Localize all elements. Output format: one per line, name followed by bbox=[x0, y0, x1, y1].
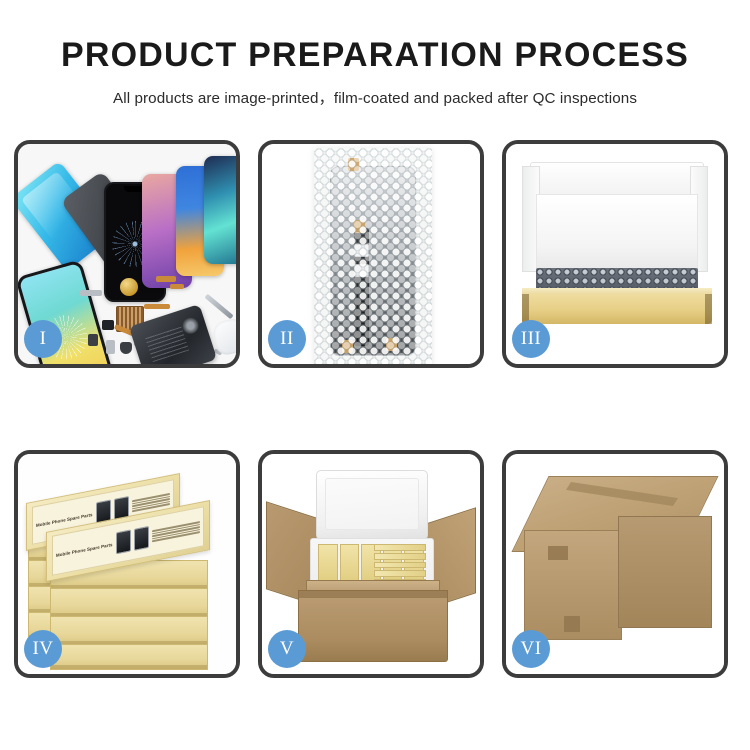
process-step-panel-2[interactable]: II bbox=[258, 140, 484, 368]
phone-teal-screen bbox=[204, 156, 236, 264]
small-part-strip bbox=[80, 290, 102, 296]
flex-cable-2 bbox=[170, 284, 184, 289]
box-label-feature-list-lower bbox=[152, 521, 200, 542]
foam-box-lid bbox=[316, 470, 428, 540]
carton-tape-upper bbox=[548, 546, 568, 560]
flex-cable-4 bbox=[144, 304, 170, 309]
process-step-panel-4[interactable]: Mobile Phone Spare Parts Mobile Phone Sp… bbox=[14, 450, 240, 678]
process-step-panel-3[interactable]: III bbox=[502, 140, 728, 368]
bubble-wrap-package bbox=[314, 148, 432, 364]
small-part-motor bbox=[120, 342, 132, 354]
bubble-texture-overlay bbox=[314, 148, 432, 364]
box-label-thumb-d bbox=[134, 526, 149, 551]
process-steps-grid: I II bbox=[14, 140, 736, 678]
step-badge-2: II bbox=[268, 320, 306, 358]
box-label-brand-lower: Mobile Phone Spare Parts bbox=[56, 541, 113, 557]
step-badge-4: IV bbox=[24, 630, 62, 668]
step-badge-6: VI bbox=[512, 630, 550, 668]
process-step-panel-1[interactable]: I bbox=[14, 140, 240, 368]
step-badge-1: I bbox=[24, 320, 62, 358]
page-title: PRODUCT PREPARATION PROCESS bbox=[0, 38, 750, 74]
process-step-panel-6[interactable]: VI bbox=[502, 450, 728, 678]
step-badge-3: III bbox=[512, 320, 550, 358]
box-label-thumb-c bbox=[116, 529, 131, 554]
small-part-sim-tray bbox=[106, 340, 115, 354]
yellow-box-front bbox=[522, 294, 712, 324]
carton-tape-lower bbox=[564, 616, 580, 632]
process-step-panel-5[interactable]: V bbox=[258, 450, 484, 678]
flex-cable-1 bbox=[156, 276, 176, 282]
small-part-bracket bbox=[88, 334, 98, 346]
speaker-component bbox=[120, 278, 138, 296]
sealed-carton-face-right bbox=[618, 516, 712, 628]
stacked-box-r2 bbox=[50, 588, 208, 618]
page-header: PRODUCT PREPARATION PROCESS All products… bbox=[0, 0, 750, 108]
step-badge-5: V bbox=[268, 630, 306, 668]
small-part-ic bbox=[102, 320, 114, 330]
foam-sheet bbox=[536, 194, 698, 270]
stacked-box-r4 bbox=[50, 644, 208, 670]
stacked-box-r3 bbox=[50, 616, 208, 646]
page-subtitle: All products are image-printed，film-coat… bbox=[0, 86, 750, 108]
carton-front-face bbox=[298, 590, 448, 662]
